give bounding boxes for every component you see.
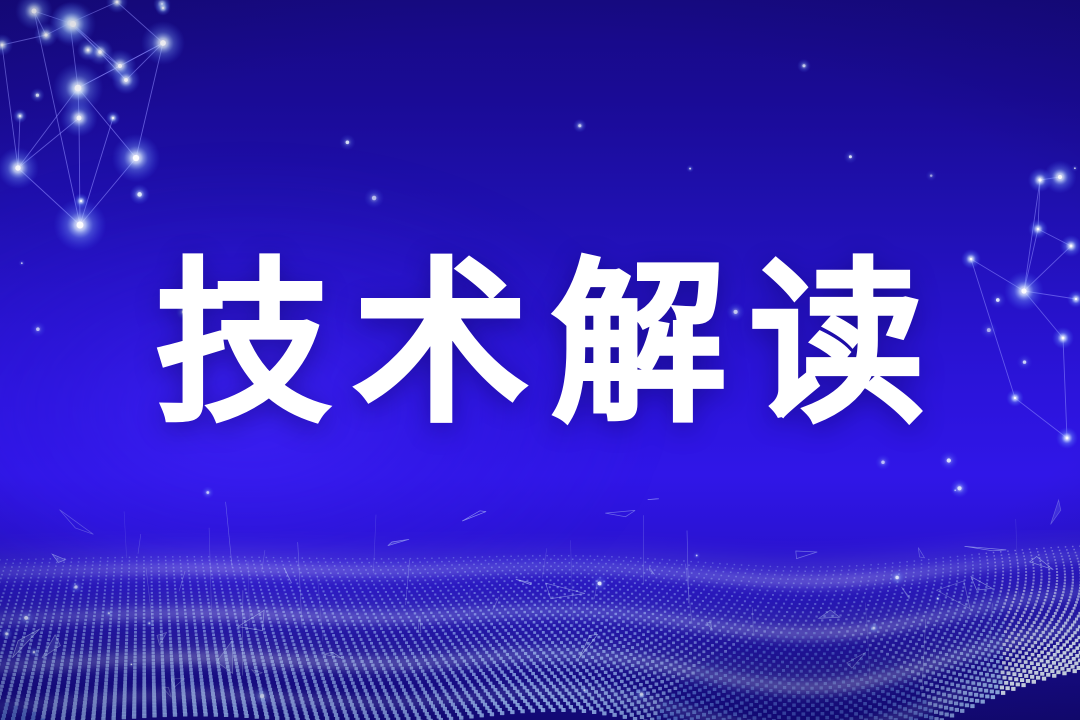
title-block: 技术解读: [0, 240, 1080, 450]
poster-canvas: 技术解读: [0, 0, 1080, 720]
page-title: 技术解读: [133, 257, 947, 433]
